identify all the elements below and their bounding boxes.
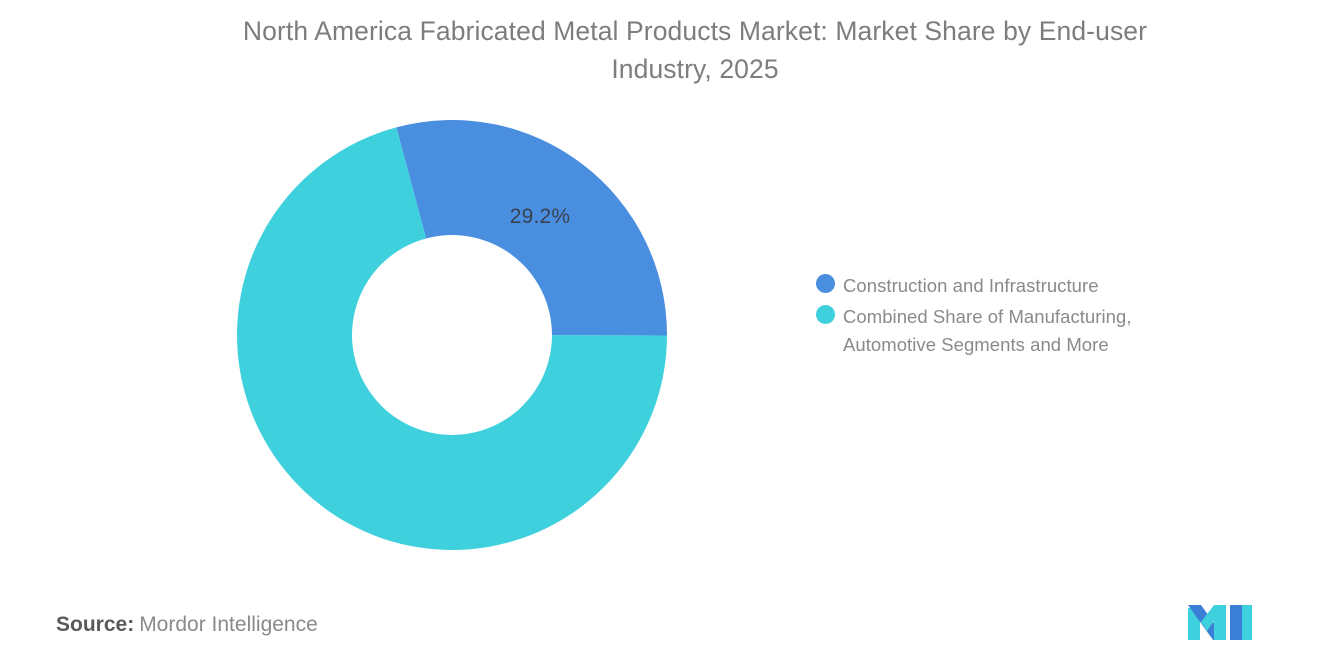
chart-figure: North America Fabricated Metal Products … — [0, 0, 1320, 665]
legend-swatch-icon-construction — [816, 274, 835, 293]
legend-label-combined-share: Combined Share of Manufacturing, Automot… — [843, 303, 1132, 359]
donut-chart-svg — [237, 120, 667, 550]
donut-hole — [352, 235, 552, 435]
legend-item-combined-share[interactable]: Combined Share of Manufacturing, Automot… — [816, 303, 1236, 359]
chart-title-line-2: Industry, 2025 — [611, 54, 778, 84]
legend-item-construction-and-infrastructure[interactable]: Construction and Infrastructure — [816, 272, 1236, 300]
logo-svg — [1186, 599, 1254, 641]
page-title: North America Fabricated Metal Products … — [150, 12, 1240, 88]
source-label: Source: — [56, 613, 134, 636]
donut-chart — [237, 120, 667, 550]
legend-label-combined-share-line-2: Automotive Segments and More — [843, 334, 1109, 355]
mordor-intelligence-logo-icon — [1186, 599, 1254, 641]
source-value: Mordor Intelligence — [139, 613, 318, 636]
legend-label-construction: Construction and Infrastructure — [843, 272, 1099, 300]
chart-legend: Construction and Infrastructure Combined… — [816, 272, 1236, 362]
legend-label-combined-share-line-1: Combined Share of Manufacturing, — [843, 306, 1132, 327]
slice-value-label: 29.2% — [492, 205, 588, 229]
legend-swatch-icon-combined-share — [816, 305, 835, 324]
source-attribution: Source:Mordor Intelligence — [56, 613, 318, 637]
chart-title-line-1: North America Fabricated Metal Products … — [243, 16, 1147, 46]
